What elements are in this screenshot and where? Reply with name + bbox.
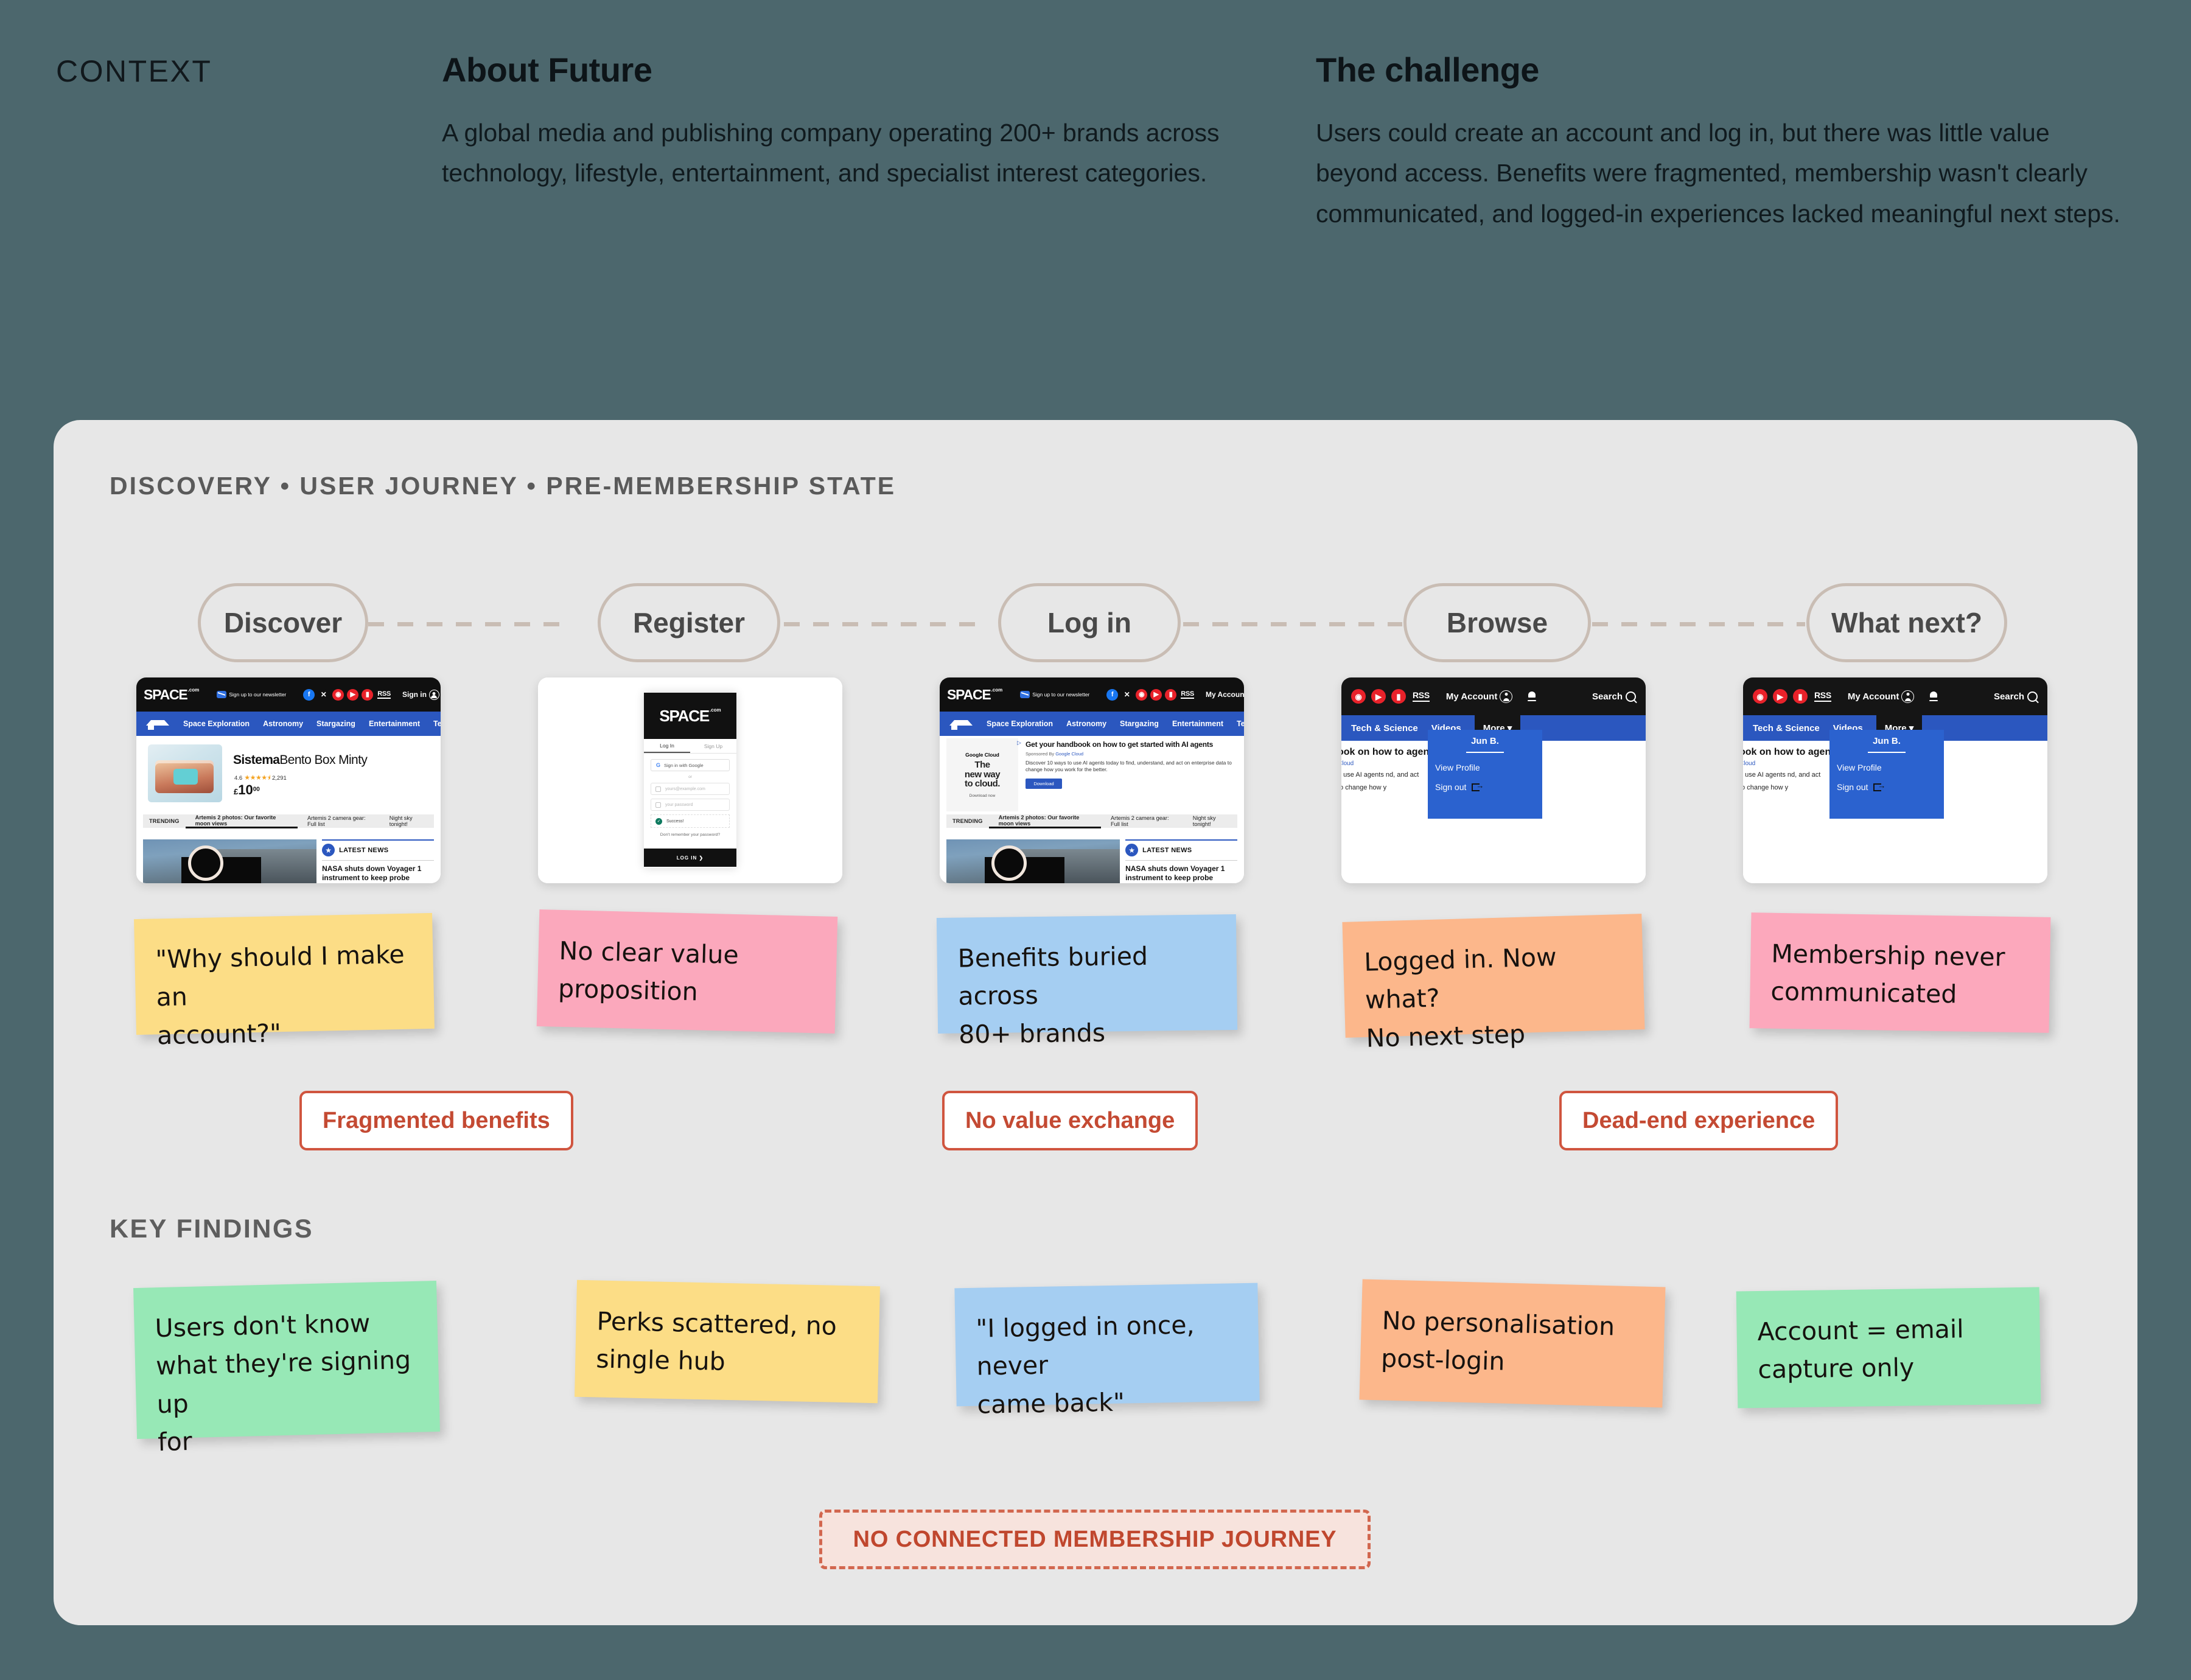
envelope-icon (1020, 691, 1030, 698)
instagram-icon[interactable]: ◉ (1753, 689, 1767, 704)
site-nav-bar[interactable]: Space Exploration Astronomy Stargazing E… (136, 712, 441, 736)
space-logo-sup: .com (710, 708, 721, 713)
login-modal-wrap: SPACE.com Log In Sign Up G Sign in with … (538, 677, 842, 883)
promo-price-cents: 00 (253, 786, 260, 793)
newsletter-signup[interactable]: Sign up to our newsletter (1020, 691, 1089, 698)
view-profile-label: View Profile (1837, 763, 1882, 772)
search-icon (2027, 691, 2038, 702)
space-logo-text: SPACE (144, 688, 187, 702)
latest-news-column: ★ LATEST NEWS NASA shuts down Voyager 1 … (1125, 839, 1237, 883)
step-pill-discover[interactable]: Discover (198, 583, 368, 662)
key-findings-label: KEY FINDINGS (110, 1214, 313, 1244)
menu-divider (1466, 752, 1504, 753)
challenge-heading: The challenge (1316, 50, 2125, 89)
social-links[interactable]: f ✕ ◉ ▶ ▮ RSS (1106, 689, 1194, 701)
success-message: ✓ Success! (651, 814, 730, 828)
screenshot-whatnext[interactable]: ◉ ▶ ▮ RSS My Account Search Tech & Scien… (1743, 677, 2047, 883)
context-column-about: About Future A global media and publishi… (442, 50, 1227, 194)
promo-price-main: 10 (238, 782, 253, 797)
account-user-name: Jun B. (1435, 736, 1535, 746)
trending-item-1[interactable]: Artemis 2 photos: Our favorite moon view… (186, 814, 298, 828)
my-account-link[interactable]: My Account (1206, 690, 1244, 700)
nav-entertainment[interactable]: Entertainment (362, 719, 427, 728)
site-header-bar: SPACE.com Sign up to our newsletter f ✕ … (136, 677, 441, 712)
sticky-note-pain-2[interactable]: No clear value proposition (537, 909, 838, 1034)
promo-rating-value: 4.6 (234, 775, 242, 782)
hero-image (143, 839, 316, 883)
success-label: Success! (666, 819, 683, 824)
nav-tech-science[interactable]: Tech & Science (1230, 719, 1244, 728)
menu-divider (1868, 752, 1906, 753)
search-label: Search (1994, 691, 2024, 702)
ad-tagline: The new way to cloud. (965, 760, 1000, 789)
about-heading: About Future (442, 50, 1227, 89)
nav-tech-science[interactable]: Tech & Science (1753, 723, 1820, 733)
google-sign-in-label: Sign in with Google (664, 763, 704, 768)
login-tabs[interactable]: Log In Sign Up (644, 739, 736, 754)
tab-log-in[interactable]: Log In (644, 739, 690, 753)
nav-entertainment[interactable]: Entertainment (1165, 719, 1230, 728)
newsletter-label: Sign up to our newsletter (229, 691, 286, 698)
rss-link[interactable]: RSS (1814, 691, 1831, 701)
or-divider: or (651, 775, 730, 779)
step-pill-browse[interactable]: Browse (1403, 583, 1591, 662)
google-icon: G (656, 762, 660, 768)
trending-item-1[interactable]: Artemis 2 photos: Our favorite moon view… (989, 814, 1101, 828)
star-badge-icon: ★ (1125, 844, 1138, 856)
latest-news-label: LATEST NEWS (1142, 847, 1192, 854)
tag-dead-end-experience[interactable]: Dead-end experience (1559, 1091, 1838, 1150)
rss-link[interactable]: RSS (1413, 691, 1430, 701)
nav-tech-science[interactable]: Tech & Science (1351, 723, 1418, 733)
sticky-note-finding-1[interactable]: Users don't know what they're signing up… (133, 1281, 440, 1439)
tag-fragmented-benefits[interactable]: Fragmented benefits (299, 1091, 573, 1150)
site-body: Google Cloud The new way to cloud. Downl… (940, 736, 1244, 883)
step-pill-register[interactable]: Register (598, 583, 780, 662)
latest-news-headline[interactable]: NASA shuts down Voyager 1 instrument to … (1125, 861, 1237, 883)
latest-news-header: ★ LATEST NEWS (322, 839, 434, 861)
context-label: CONTEXT (56, 54, 212, 89)
space-logo: SPACE.com (947, 688, 1002, 702)
promo-product-image (148, 744, 222, 802)
trending-item-3[interactable]: Night sky tonight! (1183, 815, 1237, 827)
star-badge-icon: ★ (322, 844, 335, 856)
home-icon[interactable] (949, 720, 973, 726)
facebook-icon[interactable]: f (1106, 689, 1118, 701)
trending-bar[interactable]: TRENDING Artemis 2 photos: Our favorite … (946, 814, 1237, 828)
screenshot-discover[interactable]: SPACE.com Sign up to our newsletter f ✕ … (136, 677, 441, 883)
nav-astronomy[interactable]: Astronomy (1060, 719, 1113, 728)
site-header-bar: SPACE.com Sign up to our newsletter f ✕ … (940, 677, 1244, 712)
my-account-label: My Account (1446, 691, 1497, 702)
nav-stargazing[interactable]: Stargazing (1113, 719, 1165, 728)
newsletter-signup[interactable]: Sign up to our newsletter (217, 691, 286, 698)
latest-news-column: ★ LATEST NEWS NASA shuts down Voyager 1 … (322, 839, 434, 883)
password-field[interactable]: your password (651, 799, 730, 811)
menu-item-sign-out[interactable]: Sign out (1837, 782, 1937, 792)
user-circle-icon (1500, 690, 1512, 703)
flipboard-icon[interactable]: ▮ (1391, 689, 1406, 704)
cloud-wordmark: Cloud (985, 752, 999, 758)
nav-space-exploration[interactable]: Space Exploration (176, 719, 256, 728)
promo-brand: Sistema (233, 753, 279, 767)
login-card-header: SPACE.com (644, 693, 736, 739)
email-field[interactable]: yours@example.com (651, 783, 730, 795)
step-label-login: Log in (1047, 606, 1131, 639)
sticky-note-finding-4[interactable]: No personalisation post-login (1359, 1279, 1665, 1408)
body-lower: ★ LATEST NEWS NASA shuts down Voyager 1 … (946, 839, 1237, 883)
facebook-icon[interactable]: f (303, 689, 315, 701)
instagram-icon[interactable]: ◉ (1351, 689, 1366, 704)
flipboard-icon[interactable]: ▮ (1793, 689, 1808, 704)
ad-copy: ▷ Get your handbook on how to get starte… (1026, 738, 1237, 811)
promo-product: Bento Box Minty (279, 753, 367, 767)
youtube-icon[interactable]: ▶ (1371, 689, 1386, 704)
log-in-button[interactable]: LOG IN ❯ (644, 849, 736, 867)
site-body: SistemaBento Box Minty 4.6 ★★★★⯨ 2,291 £… (136, 736, 441, 883)
user-circle-icon (1901, 690, 1914, 703)
ad-download-button[interactable]: Download (1026, 779, 1062, 789)
check-icon: ✓ (655, 818, 662, 825)
home-icon[interactable] (146, 720, 169, 726)
site-header-bar: ◉ ▶ ▮ RSS My Account Search (1743, 677, 2047, 715)
trending-item-3[interactable]: Night sky tonight! (380, 815, 434, 827)
step-pill-whatnext[interactable]: What next? (1806, 583, 2007, 662)
sign-out-label: Sign out (1837, 782, 1868, 792)
rss-link[interactable]: RSS (377, 690, 391, 699)
ad-brand: Google Cloud (965, 752, 999, 758)
account-dropdown-menu[interactable]: Jun B. View Profile Sign out (1829, 730, 1944, 819)
google-wordmark: Google (965, 752, 983, 758)
bell-icon[interactable] (1528, 691, 1538, 702)
screenshot-browse[interactable]: ◉ ▶ ▮ RSS My Account Search Tech & Scien… (1341, 677, 1646, 883)
context-column-challenge: The challenge Users could create an acco… (1316, 50, 2125, 234)
x-twitter-icon[interactable]: ✕ (1121, 689, 1133, 701)
youtube-icon[interactable]: ▶ (1150, 689, 1162, 701)
step-label-register: Register (633, 606, 745, 639)
trending-label: TRENDING (143, 818, 186, 824)
envelope-icon (217, 691, 226, 698)
panel-eyebrow: DISCOVERY • USER JOURNEY • PRE-MEMBERSHI… (110, 472, 896, 500)
sticky-note-pain-5[interactable]: Membership never communicated (1750, 912, 2051, 1033)
step-label-discover: Discover (224, 606, 342, 639)
my-account-label: My Account (1848, 691, 1899, 702)
no-connected-journey-banner: NO CONNECTED MEMBERSHIP JOURNEY (819, 1510, 1371, 1569)
slide-canvas: CONTEXT About Future A global media and … (0, 0, 2191, 1680)
space-logo: SPACE.com (144, 688, 199, 702)
space-logo-sup: .com (188, 688, 200, 693)
latest-news-header: ★ LATEST NEWS (1125, 839, 1237, 861)
promo-price: £1000 (234, 782, 260, 798)
email-placeholder: yours@example.com (665, 787, 705, 791)
menu-item-sign-out[interactable]: Sign out (1435, 782, 1535, 792)
bell-icon[interactable] (1929, 691, 1940, 702)
sign-in-label: Sign in (402, 690, 427, 699)
view-profile-label: View Profile (1435, 763, 1480, 772)
login-form: G Sign in with Google or yours@example.c… (644, 754, 736, 842)
nav-space-exploration[interactable]: Space Exploration (980, 719, 1060, 728)
search-label: Search (1592, 691, 1623, 702)
logout-icon (1472, 783, 1480, 791)
nav-astronomy[interactable]: Astronomy (256, 719, 310, 728)
ad-sponsor-name[interactable]: Google Cloud (1055, 751, 1083, 757)
eclipse-graphic (188, 845, 223, 881)
youtube-icon[interactable]: ▶ (1773, 689, 1787, 704)
login-card[interactable]: SPACE.com Log In Sign Up G Sign in with … (644, 693, 736, 868)
space-logo-sup: .com (991, 688, 1003, 693)
trending-item-2[interactable]: Artemis 2 camera gear: Full list (1101, 815, 1183, 827)
tab-sign-up[interactable]: Sign Up (690, 739, 736, 753)
instagram-icon[interactable]: ◉ (332, 689, 344, 701)
space-logo-text: SPACE (947, 688, 991, 702)
about-body: A global media and publishing company op… (442, 113, 1227, 194)
connector-1 (368, 622, 563, 626)
flipboard-icon[interactable]: ▮ (362, 689, 373, 701)
connector-3 (1183, 622, 1402, 626)
screenshot-register[interactable]: SPACE.com Log In Sign Up G Sign in with … (538, 677, 842, 883)
rss-link[interactable]: RSS (1181, 690, 1194, 699)
account-dropdown-menu[interactable]: Jun B. View Profile Sign out (1428, 730, 1542, 819)
eclipse-graphic (991, 845, 1027, 881)
trending-item-2[interactable]: Artemis 2 camera gear: Full list (298, 815, 380, 827)
space-logo-text: SPACE (659, 708, 709, 724)
google-sign-in-button[interactable]: G Sign in with Google (651, 759, 730, 771)
tag-no-value-exchange[interactable]: No value exchange (942, 1091, 1198, 1150)
menu-item-view-profile[interactable]: View Profile (1837, 763, 1937, 772)
sign-out-label: Sign out (1435, 782, 1466, 792)
password-placeholder: your password (665, 803, 693, 807)
sticky-note-pain-1[interactable]: "Why should I make an account?" (134, 913, 435, 1035)
newsletter-label: Sign up to our newsletter (1032, 691, 1089, 698)
hero-image (946, 839, 1120, 883)
promo-ad[interactable]: SistemaBento Box Minty 4.6 ★★★★⯨ 2,291 £… (143, 740, 434, 811)
email-icon (655, 786, 661, 792)
my-account-link[interactable]: My Account (1446, 690, 1512, 703)
step-label-whatnext: What next? (1831, 606, 1982, 639)
sticky-note-finding-5[interactable]: Account = email capture only (1736, 1287, 2041, 1409)
ad-headline[interactable]: Get your handbook on how to get started … (1026, 741, 1237, 749)
promo-title: SistemaBento Box Minty (233, 753, 367, 768)
connector-4 (1592, 622, 1805, 626)
social-links[interactable]: f ✕ ◉ ▶ ▮ RSS (303, 689, 391, 701)
latest-news-label: LATEST NEWS (339, 847, 388, 854)
sticky-note-pain-4[interactable]: Logged in. Now what? No next step (1342, 914, 1644, 1038)
step-pill-login[interactable]: Log in (998, 583, 1181, 662)
flipboard-icon[interactable]: ▮ (1165, 689, 1176, 701)
nav-stargazing[interactable]: Stargazing (310, 719, 362, 728)
menu-item-view-profile[interactable]: View Profile (1435, 763, 1535, 772)
challenge-body: Users could create an account and log in… (1316, 113, 2125, 234)
body-lower: ★ LATEST NEWS NASA shuts down Voyager 1 … (143, 839, 434, 883)
promo-review-count: 2,291 (272, 775, 287, 782)
sponsored-ad[interactable]: Google Cloud The new way to cloud. Downl… (946, 738, 1237, 811)
ad-sponsor-prefix: Sponsored By (1026, 751, 1055, 757)
user-circle-icon (429, 690, 439, 700)
site-header-bar: ◉ ▶ ▮ RSS My Account Search (1341, 677, 1646, 715)
screenshot-login[interactable]: SPACE.com Sign up to our newsletter f ✕ … (940, 677, 1244, 883)
nav-tech-science[interactable]: Tech & Science (427, 719, 441, 728)
site-nav-bar[interactable]: Space Exploration Astronomy Stargazing E… (940, 712, 1244, 736)
my-account-label: My Account (1206, 690, 1244, 699)
space-logo: SPACE.com (659, 708, 721, 724)
search-control[interactable]: Search (1994, 691, 2038, 702)
ad-description: Discover 10 ways to use AI agents today … (1026, 760, 1237, 773)
ad-choices-icon: ▷ (1017, 740, 1021, 746)
trending-bar[interactable]: TRENDING Artemis 2 photos: Our favorite … (143, 814, 434, 828)
account-user-name: Jun B. (1837, 736, 1937, 746)
sticky-note-finding-2[interactable]: Perks scattered, no single hub (575, 1280, 880, 1403)
step-label-browse: Browse (1447, 606, 1548, 639)
search-control[interactable]: Search (1592, 691, 1636, 702)
ad-sponsor-line: Sponsored By Google Cloud (1026, 751, 1237, 757)
sticky-note-pain-3[interactable]: Benefits buried across 80+ brands (937, 914, 1237, 1034)
lock-icon (655, 802, 661, 808)
sign-in-link[interactable]: Sign in (402, 690, 439, 700)
latest-news-headline[interactable]: NASA shuts down Voyager 1 instrument to … (322, 861, 434, 883)
ad-creative: Google Cloud The new way to cloud. Downl… (946, 738, 1018, 811)
trending-label: TRENDING (946, 818, 989, 824)
sticky-note-finding-3[interactable]: "I logged in once, never came back" (954, 1283, 1259, 1407)
youtube-icon[interactable]: ▶ (347, 689, 358, 701)
connector-2 (784, 622, 979, 626)
x-twitter-icon[interactable]: ✕ (318, 689, 329, 701)
forgot-password-link[interactable]: Don't remember your password? (651, 833, 730, 837)
search-icon (1626, 691, 1636, 702)
logout-icon (1873, 783, 1881, 791)
instagram-icon[interactable]: ◉ (1136, 689, 1147, 701)
journey-steps: Discover Register Log in Browse What nex… (0, 583, 2191, 662)
my-account-link[interactable]: My Account (1848, 690, 1914, 703)
ad-download-note: Download now (970, 794, 996, 798)
